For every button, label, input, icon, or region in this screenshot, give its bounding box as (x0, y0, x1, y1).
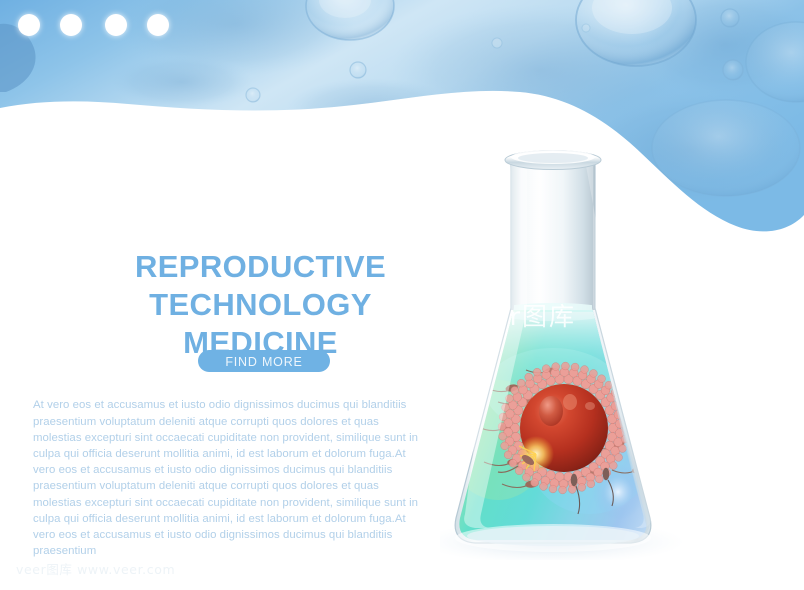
water-bubble (576, 0, 696, 66)
corner-watermark: veer图库 www.veer.com (16, 559, 175, 578)
water-bubble-small (582, 24, 590, 32)
find-more-button[interactable]: FIND MORE (198, 350, 330, 372)
landing-page-illustration: REPRODUCTIVE TECHNOLOGY MEDICINE FIND MO… (0, 0, 804, 590)
ovum-pronucleus (539, 396, 563, 426)
slide-dot-1[interactable] (18, 14, 40, 36)
water-bubble-small (350, 62, 366, 78)
erlenmeyer-flask-illustration (440, 140, 740, 560)
content-column: REPRODUCTIVE TECHNOLOGY MEDICINE FIND MO… (33, 248, 493, 362)
ovum-highlight (563, 394, 577, 410)
slide-dot-4[interactable] (147, 14, 169, 36)
water-bubble-small (721, 9, 739, 27)
water-bubble (306, 0, 394, 40)
slide-dot-3[interactable] (105, 14, 127, 36)
page-title-line-1: REPRODUCTIVE TECHNOLOGY (135, 249, 386, 322)
water-bubble-small (723, 60, 743, 80)
water-bubble-small (492, 38, 502, 48)
body-paragraph: At vero eos et accusamus et iusto odio d… (33, 397, 425, 559)
slide-dot-2[interactable] (60, 14, 82, 36)
slide-indicator-dots (0, 0, 804, 60)
page-title: REPRODUCTIVE TECHNOLOGY MEDICINE (33, 248, 488, 362)
flask-rim (505, 150, 601, 170)
water-bubble-small (246, 88, 260, 102)
water-bubble (746, 22, 804, 102)
wave-edge-shadow (0, 24, 36, 92)
erlenmeyer-flask (440, 150, 670, 552)
